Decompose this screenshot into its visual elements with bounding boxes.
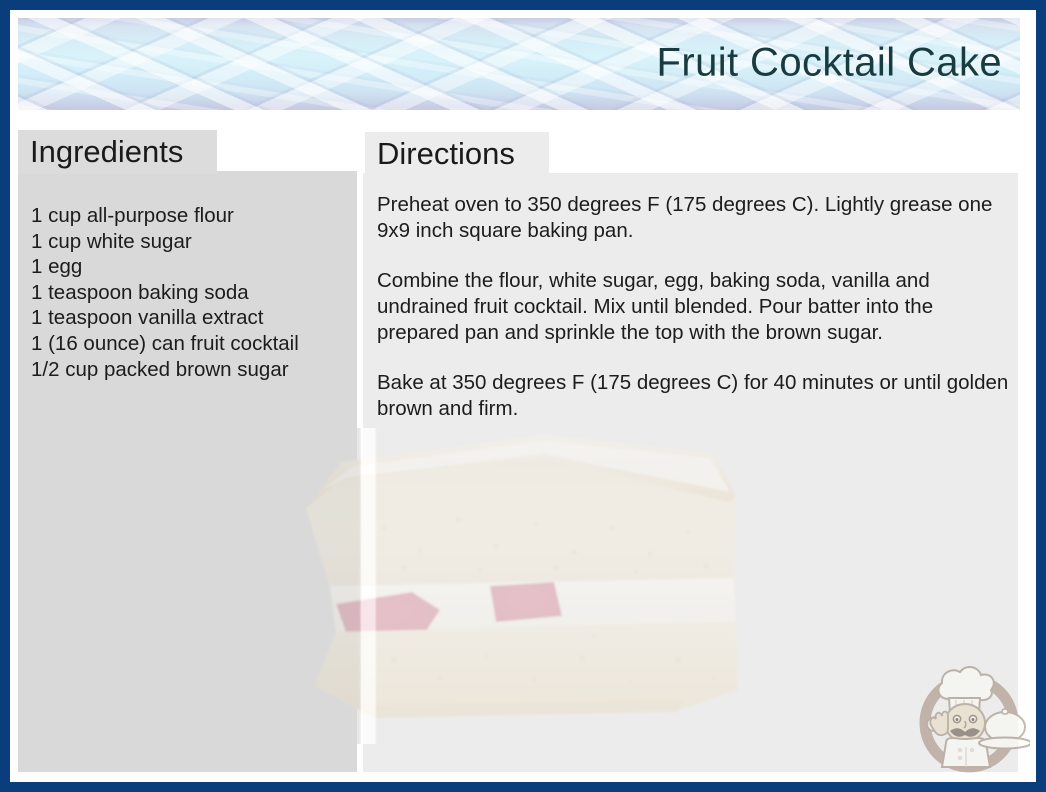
directions-body: Preheat oven to 350 degrees F (175 degre… [377, 192, 1013, 422]
directions-panel: Preheat oven to 350 degrees F (175 degre… [363, 173, 1018, 772]
list-item: 1 (16 ounce) can fruit cocktail [31, 331, 351, 357]
header-banner: Fruit Cocktail Cake [18, 18, 1020, 110]
list-item: 1 teaspoon baking soda [31, 280, 351, 306]
direction-step: Bake at 350 degrees F (175 degrees C) fo… [377, 370, 1013, 422]
list-item: 1 cup white sugar [31, 229, 351, 255]
ingredients-panel: 1 cup all-purpose flour 1 cup white suga… [18, 171, 357, 772]
direction-step: Preheat oven to 350 degrees F (175 degre… [377, 192, 1013, 244]
direction-step: Combine the flour, white sugar, egg, bak… [377, 268, 1013, 346]
section-tab-ingredients: Ingredients [18, 130, 217, 174]
card-inner-surface: Fruit Cocktail Cake 1 cup all-purpose fl… [10, 10, 1036, 782]
list-item: 1/2 cup packed brown sugar [31, 357, 351, 383]
ingredients-list: 1 cup all-purpose flour 1 cup white suga… [31, 203, 351, 382]
page-title: Fruit Cocktail Cake [657, 41, 1002, 86]
recipe-card: Fruit Cocktail Cake 1 cup all-purpose fl… [0, 0, 1046, 792]
section-tab-directions: Directions [365, 132, 549, 176]
list-item: 1 egg [31, 254, 351, 280]
list-item: 1 teaspoon vanilla extract [31, 305, 351, 331]
list-item: 1 cup all-purpose flour [31, 203, 351, 229]
